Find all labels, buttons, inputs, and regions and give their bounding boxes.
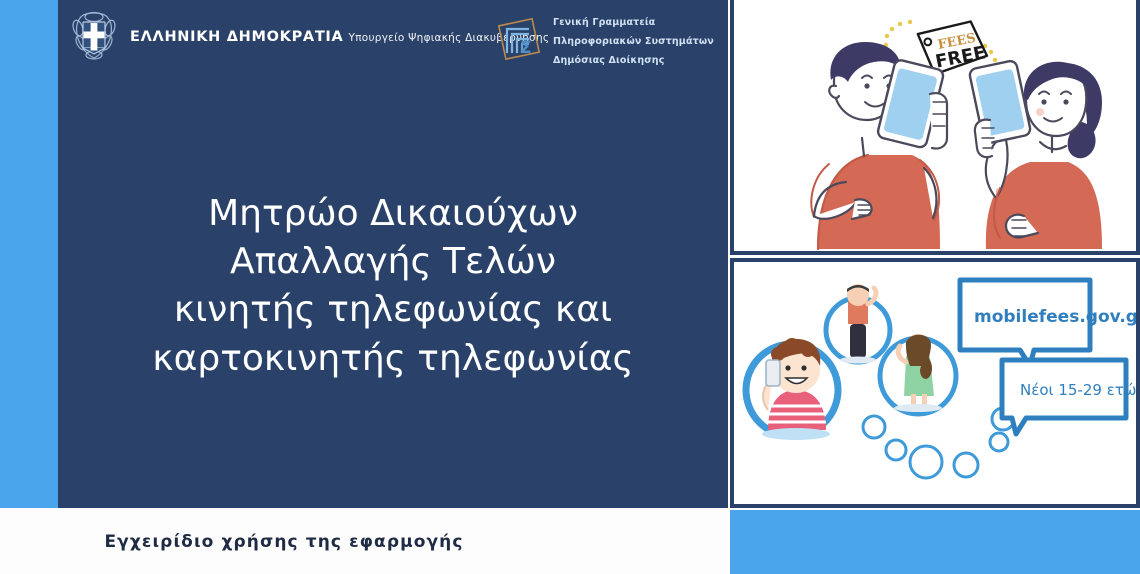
gsis-logo-icon: Σ <box>493 13 545 65</box>
gsis-logo-line2: Πληροφοριακών Συστημάτων <box>553 36 714 47</box>
illustration-bottom-panel: mobilefees.gov.gr Νέοι 15-29 ετών <box>730 258 1140 508</box>
government-logo-line1: ΕΛΛΗΝΙΚΗ ΔΗΜΟΚΡΑΤΙΑ <box>130 29 343 45</box>
youth-calling-bubbles-illustration: mobilefees.gov.gr Νέοι 15-29 ετών <box>734 262 1136 504</box>
gsis-logo-line3: Δημόσιας Διοίκησης <box>553 55 665 66</box>
logo-row: ΕΛΛΗΝΙΚΗ ΔΗΜΟΚΡΑΤΙΑ Υπουργείο Ψηφιακής Δ… <box>58 0 728 80</box>
two-people-with-phones-illustration: FEES FREE <box>734 0 1136 251</box>
bottom-right-blue-block <box>730 510 1140 574</box>
bubble-url-label: mobilefees.gov.gr <box>974 307 1136 327</box>
page-title: Μητρώο Δικαιούχων Απαλλαγής Τελών κινητή… <box>98 190 688 383</box>
hero-panel: ΕΛΛΗΝΙΚΗ ΔΗΜΟΚΡΑΤΙΑ Υπουργείο Ψηφιακής Δ… <box>58 0 728 508</box>
page-title-line-1: Μητρώο Δικαιούχων <box>98 190 688 238</box>
svg-text:Σ: Σ <box>520 38 532 58</box>
illustration-top-panel: FEES FREE <box>730 0 1140 255</box>
gsis-logo: Σ Γενική Γραμματεία Πληροφοριακών Συστημ… <box>493 10 728 67</box>
government-logo: ΕΛΛΗΝΙΚΗ ΔΗΜΟΚΡΑΤΙΑ Υπουργείο Ψηφιακής Δ… <box>68 10 549 62</box>
caption-band: Εγχειρίδιο χρήσης της εφαρμογής <box>0 510 728 574</box>
left-accent-stripe <box>0 0 58 508</box>
caption-text: Εγχειρίδιο χρήσης της εφαρμογής <box>0 532 728 552</box>
page-title-line-3: κινητής τηλεφωνίας και <box>98 286 688 334</box>
greek-coat-of-arms-icon <box>68 10 120 62</box>
gsis-logo-line1: Γενική Γραμματεία <box>553 17 655 28</box>
government-logo-text: ΕΛΛΗΝΙΚΗ ΔΗΜΟΚΡΑΤΙΑ Υπουργείο Ψηφιακής Δ… <box>130 26 549 46</box>
page-title-line-4: καρτοκινητής τηλεφωνίας <box>98 335 688 383</box>
cover-slide: ΕΛΛΗΝΙΚΗ ΔΗΜΟΚΡΑΤΙΑ Υπουργείο Ψηφιακής Δ… <box>0 0 1140 574</box>
gsis-logo-text: Γενική Γραμματεία Πληροφοριακών Συστημάτ… <box>553 10 728 67</box>
page-title-line-2: Απαλλαγής Τελών <box>98 238 688 286</box>
bubble-audience-label: Νέοι 15-29 ετών <box>1020 381 1136 399</box>
